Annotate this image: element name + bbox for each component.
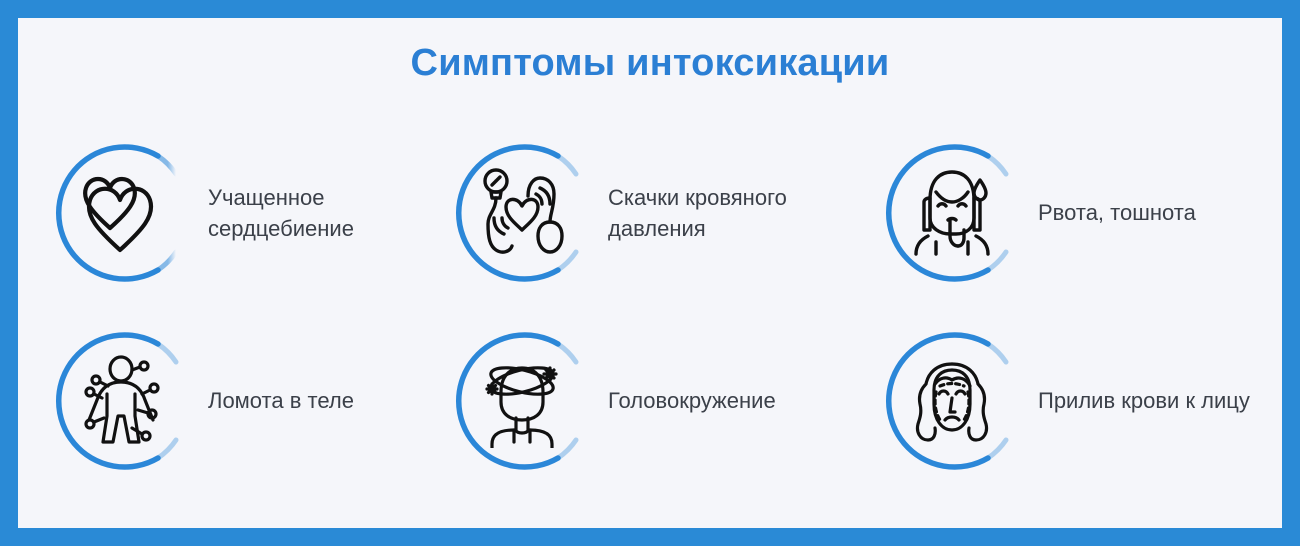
symptom-item-blood-pressure[interactable]: Скачки кровяного давления bbox=[448, 118, 878, 308]
infographic-card: Симптомы интоксикации bbox=[0, 0, 1300, 546]
symptom-item-facial-flushing[interactable]: Прилив крови к лицу bbox=[878, 308, 1262, 493]
dizziness-icon bbox=[476, 354, 568, 448]
symptom-label: Рвота, тошнота bbox=[1038, 197, 1196, 228]
symptom-grid: Учащенное сердцебиение bbox=[48, 118, 1262, 493]
card-inner-surface: Симптомы интоксикации bbox=[18, 18, 1282, 528]
blood-pressure-monitor-icon bbox=[476, 166, 568, 260]
icon-ring-facial-flushing bbox=[878, 328, 1024, 474]
facial-flushing-icon bbox=[906, 354, 998, 448]
body-ache-icon bbox=[76, 354, 168, 448]
symptom-label: Скачки кровяного давления bbox=[608, 182, 878, 244]
symptom-item-nausea[interactable]: Рвота, тошнота bbox=[878, 118, 1262, 308]
double-heart-icon bbox=[76, 166, 168, 260]
symptom-item-palpitations[interactable]: Учащенное сердцебиение bbox=[48, 118, 448, 308]
symptom-label: Головокружение bbox=[608, 385, 776, 416]
icon-ring-nausea bbox=[878, 140, 1024, 286]
icon-ring-dizziness bbox=[448, 328, 594, 474]
symptom-label: Учащенное сердцебиение bbox=[208, 182, 448, 244]
symptom-item-dizziness[interactable]: Головокружение bbox=[448, 308, 878, 493]
nausea-vomiting-icon bbox=[906, 166, 998, 260]
symptom-label: Прилив крови к лицу bbox=[1038, 385, 1250, 416]
icon-ring-palpitations bbox=[48, 140, 194, 286]
icon-ring-blood-pressure bbox=[448, 140, 594, 286]
symptom-label: Ломота в теле bbox=[208, 385, 354, 416]
icon-ring-body-ache bbox=[48, 328, 194, 474]
page-title: Симптомы интоксикации bbox=[18, 42, 1282, 85]
symptom-item-body-ache[interactable]: Ломота в теле bbox=[48, 308, 448, 493]
